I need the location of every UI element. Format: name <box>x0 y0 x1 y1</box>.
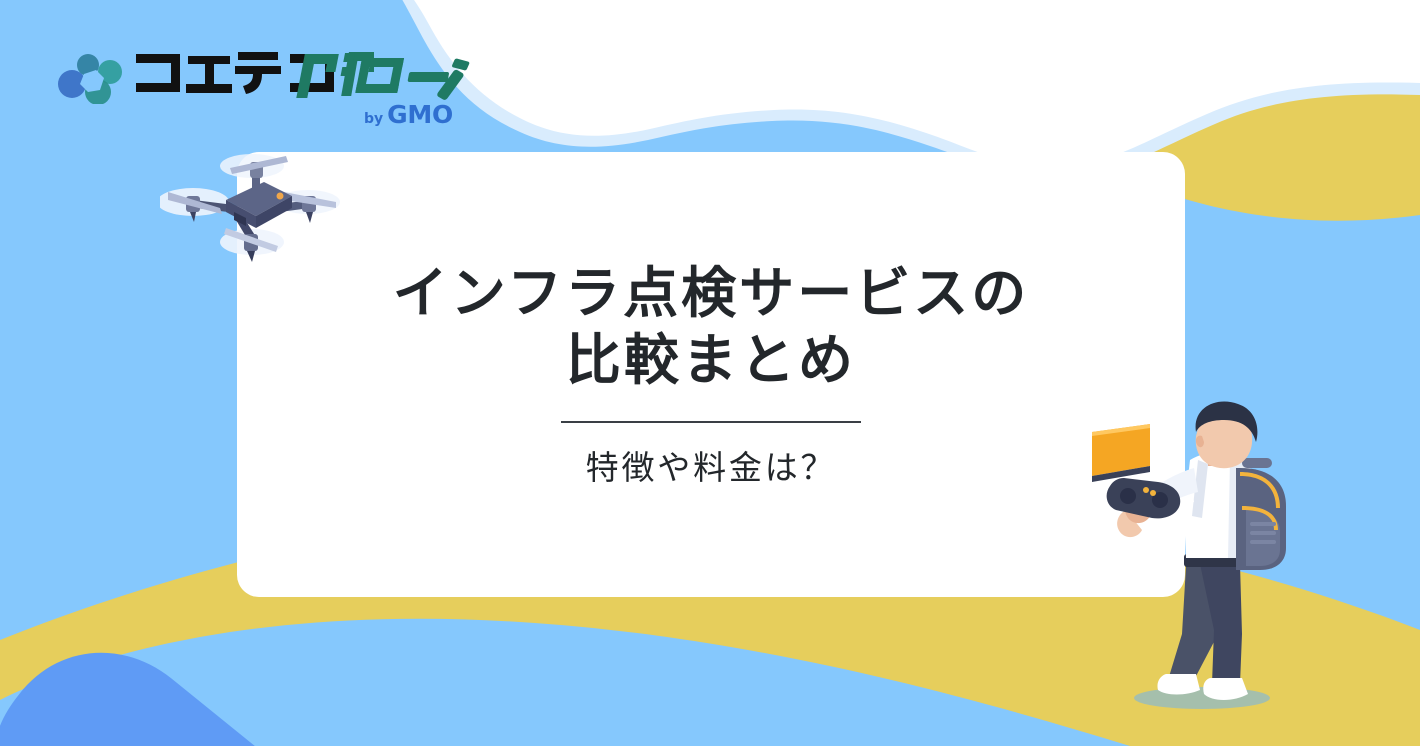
byline-company: GMO <box>387 104 453 127</box>
accent-char-dash <box>407 72 449 82</box>
foot-front-left <box>247 251 255 262</box>
content-card <box>237 152 1185 597</box>
backpack-handle <box>1242 458 1272 468</box>
person-with-drone-controller-illustration <box>1090 398 1305 718</box>
wordmark-char-ko <box>136 54 180 92</box>
wordmark-char-e <box>186 56 232 93</box>
gamepad-stick-left <box>1120 488 1136 504</box>
foot-front-right <box>306 212 313 223</box>
person-shadow <box>1134 687 1270 709</box>
gamepad-button-b <box>1150 490 1156 496</box>
brand-wordmark-accent <box>294 48 474 106</box>
accent-char-ro <box>355 58 404 93</box>
drone-indicator-light <box>277 193 284 200</box>
quadcopter-drone-illustration <box>160 142 340 267</box>
byline-prefix: by <box>364 111 383 127</box>
gamepad-button-a <box>1143 487 1149 493</box>
foot-back-left <box>190 212 196 222</box>
backpack-ribs <box>1250 522 1276 544</box>
by-gmo-byline: by GMO <box>364 104 453 127</box>
accent-char-do <box>296 53 355 98</box>
wordmark-char-te <box>235 52 281 94</box>
hero-banner: インフラ点検サービスの 比較まとめ 特徴や料金は？ <box>0 0 1420 746</box>
front-shoe <box>1203 678 1248 700</box>
back-shoe <box>1157 674 1200 695</box>
molecule-cluster-icon <box>58 54 124 104</box>
